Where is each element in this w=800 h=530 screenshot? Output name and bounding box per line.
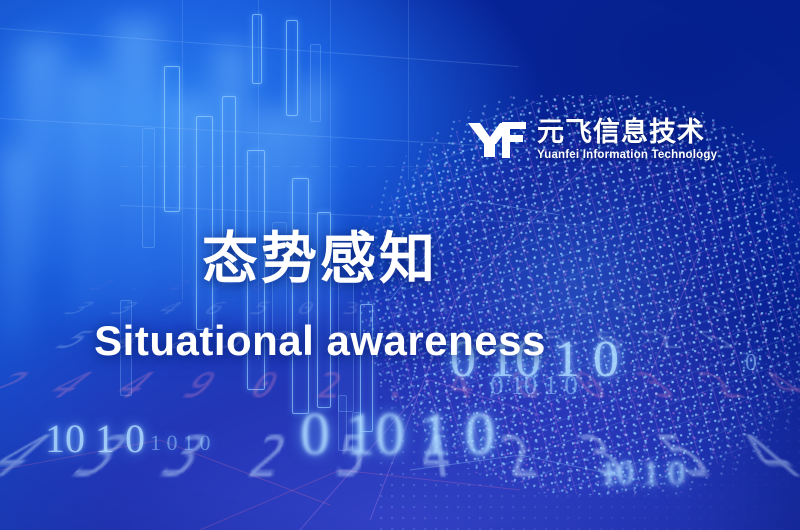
company-logo[interactable]: 元飞信息技术 Yuanfei Information Technology <box>466 118 717 162</box>
banner-root: 3 7 . 2 5 6 2 . 5 4 8 0 2 5 62 . 2 5 6 4… <box>0 0 800 530</box>
headline-title-cn: 态势感知 <box>0 214 640 295</box>
headline-block: 态势感知 Situational awareness <box>0 214 640 365</box>
yf-monogram-icon <box>466 118 528 162</box>
logo-company-cn: 元飞信息技术 <box>537 119 717 146</box>
headline-title-en: Situational awareness <box>0 317 640 365</box>
logo-company-en: Yuanfei Information Technology <box>537 150 717 162</box>
